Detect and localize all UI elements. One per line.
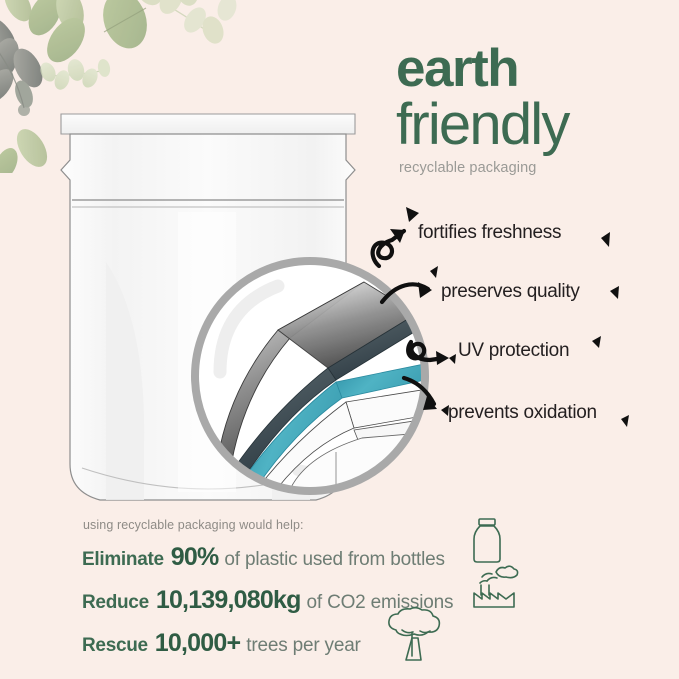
infographic-canvas: fortifies freshness preserves quality UV… [0, 0, 679, 679]
stat-tail: trees per year [246, 635, 360, 657]
stat-value: 90% [171, 543, 219, 572]
stat-verb: Reduce [82, 592, 149, 614]
stat-value: 10,139,080kg [156, 586, 301, 615]
headline-tagline: recyclable packaging [396, 160, 666, 176]
stats-intro: using recyclable packaging would help: [83, 518, 602, 532]
feature-label-3: prevents oxidation [448, 402, 597, 424]
feature-label-1: preserves quality [441, 281, 580, 303]
watercolor-leaf-sprig [115, 0, 265, 92]
stat-row: Reduce 10,139,080kg of CO2 emissions [82, 586, 602, 615]
tree-icon [376, 606, 450, 666]
feature-label-2: UV protection [458, 340, 569, 362]
headline-line1: earth [396, 44, 666, 95]
factory-icon [468, 563, 520, 611]
bottle-icon [470, 517, 504, 565]
headline-block: earth friendly recyclable packaging [396, 44, 666, 176]
stat-value: 10,000+ [155, 629, 240, 658]
stat-tail: of plastic used from bottles [224, 549, 444, 571]
stat-verb: Eliminate [82, 549, 164, 571]
headline-line2: friendly [396, 97, 666, 154]
feature-label-0: fortifies freshness [418, 222, 561, 244]
stat-row: Eliminate 90% of plastic used from bottl… [82, 543, 602, 572]
stats-section: using recyclable packaging would help: E… [82, 518, 602, 672]
magnifier-circle [186, 252, 434, 500]
stat-row: Rescue 10,000+ trees per year [82, 629, 602, 658]
stat-verb: Rescue [82, 635, 148, 657]
